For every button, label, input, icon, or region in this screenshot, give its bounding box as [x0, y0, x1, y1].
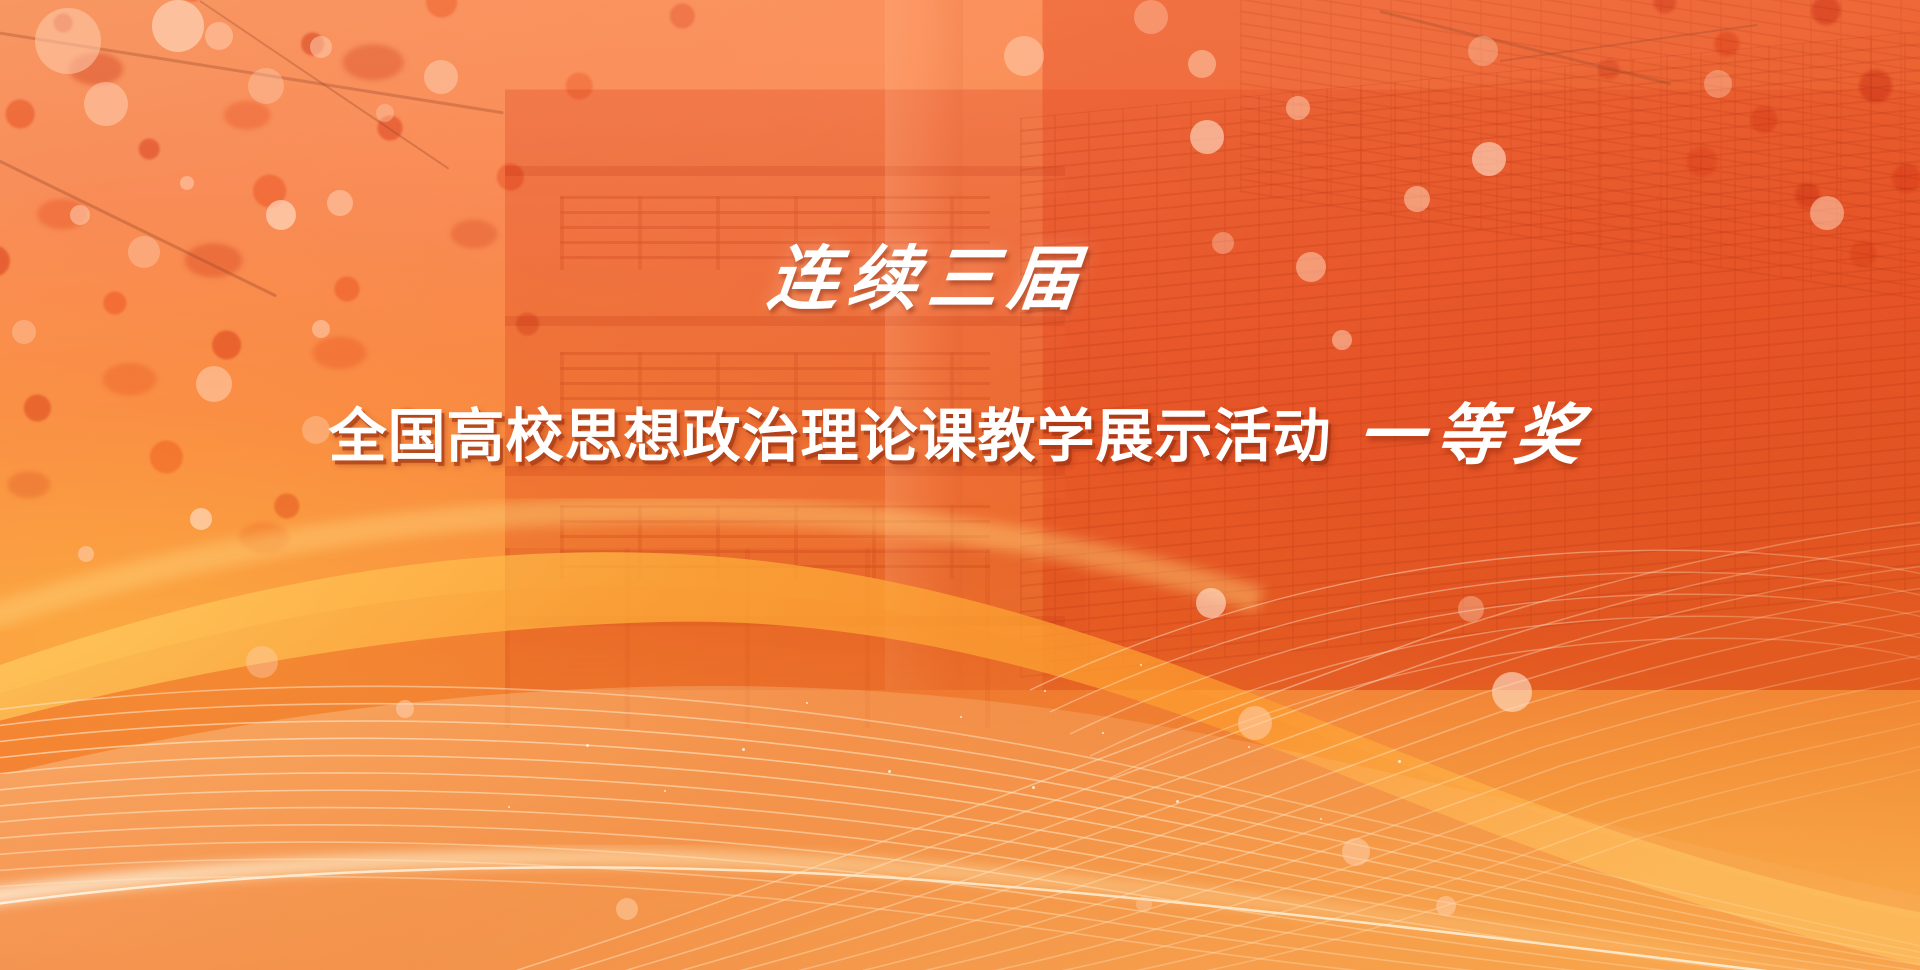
bokeh-circle-decoration: [180, 176, 194, 190]
bokeh-circle-decoration: [1458, 596, 1484, 622]
light-dust-particle: [806, 702, 808, 704]
light-dust-particle: [742, 748, 745, 751]
bokeh-circle-decoration: [1468, 36, 1498, 66]
light-dust-particle: [1032, 786, 1035, 789]
bokeh-circle-decoration: [1704, 70, 1732, 98]
bokeh-circle-decoration: [312, 320, 330, 338]
bokeh-circle-decoration: [1342, 838, 1370, 866]
light-dust-particle: [1140, 664, 1142, 666]
bokeh-circle-decoration: [1134, 0, 1168, 34]
ribbon-glow-core: [0, 867, 1920, 970]
bokeh-circle-decoration: [1004, 36, 1044, 76]
bokeh-circle-decoration: [205, 22, 233, 50]
calligraphy-subtitle: 连续三届: [0, 246, 1892, 316]
bokeh-circle-decoration: [196, 366, 232, 402]
bokeh-circle-decoration: [1472, 142, 1506, 176]
bokeh-circle-decoration: [70, 205, 90, 225]
light-dust-particle: [1044, 690, 1046, 692]
bokeh-circle-decoration: [616, 898, 638, 920]
headline-main-text: 全国高校思想政治理论课教学展示活动: [328, 404, 1331, 469]
bokeh-circle-decoration: [84, 82, 128, 126]
bokeh-circle-decoration: [310, 36, 332, 58]
bokeh-circle-decoration: [1436, 896, 1456, 916]
light-dust-particle: [508, 806, 510, 808]
bokeh-circle-decoration: [12, 320, 36, 344]
line-mesh-decoration: [0, 686, 1920, 970]
bokeh-circle-decoration: [266, 200, 296, 230]
bokeh-circle-decoration: [1810, 196, 1844, 230]
banner-canvas: 连续三届 全国高校思想政治理论课教学展示活动一等奖: [0, 0, 1920, 970]
light-dust-particle: [960, 716, 962, 718]
bokeh-circle-decoration: [1286, 96, 1310, 120]
bokeh-circle-decoration: [248, 68, 284, 104]
bokeh-circle-decoration: [396, 700, 414, 718]
bokeh-circle-decoration: [1196, 588, 1226, 618]
bokeh-circle-decoration: [1136, 896, 1152, 912]
ribbon-glow-streak: [0, 858, 1920, 970]
bokeh-circle-decoration: [1190, 120, 1224, 154]
bokeh-circle-decoration: [190, 508, 212, 530]
light-dust-particle: [1248, 746, 1250, 748]
bokeh-circle-decoration: [424, 60, 458, 94]
bokeh-circle-decoration: [376, 104, 394, 122]
bokeh-circle-decoration: [1238, 706, 1272, 740]
bokeh-circle-decoration: [1404, 186, 1430, 212]
light-dust-particle: [664, 790, 666, 792]
bokeh-circle-decoration: [1188, 50, 1216, 78]
bokeh-circle-decoration: [246, 646, 278, 678]
bokeh-circle-decoration: [78, 546, 94, 562]
light-dust-particle: [1320, 818, 1322, 820]
light-dust-particle: [1102, 732, 1104, 734]
bokeh-circle-decoration: [35, 8, 101, 74]
bokeh-circle-decoration: [327, 190, 353, 216]
bokeh-circle-decoration: [1492, 672, 1532, 712]
bokeh-circle-decoration: [1332, 330, 1352, 350]
light-dust-particle: [1398, 760, 1401, 763]
light-dust-particle: [1176, 800, 1179, 803]
bokeh-circle-decoration: [152, 0, 204, 52]
ribbon-wave-pale: [0, 686, 1920, 970]
light-dust-particle: [888, 770, 891, 773]
headline-row: 全国高校思想政治理论课教学展示活动一等奖: [0, 404, 1920, 470]
light-dust-particle: [586, 744, 589, 747]
headline-award-text: 一等奖: [1355, 404, 1595, 470]
